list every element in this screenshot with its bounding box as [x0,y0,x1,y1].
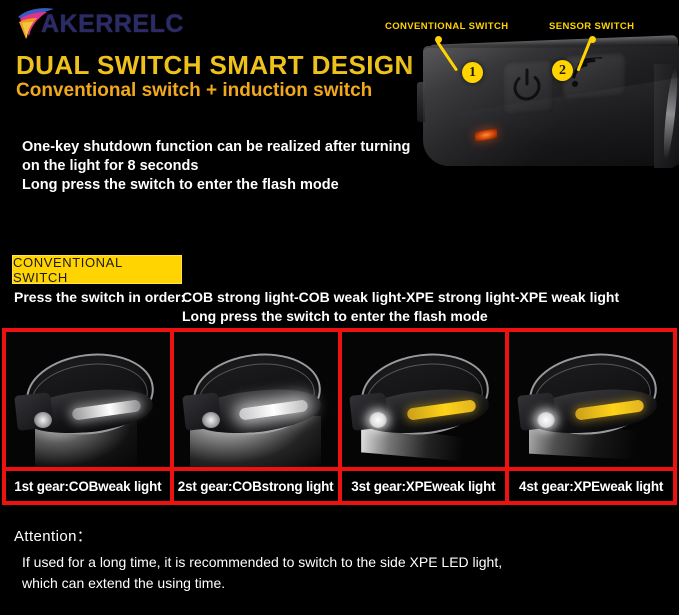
gear-caption-label: 4st gear:XPEweak light [519,479,663,494]
attention-title: Attention： [14,525,92,546]
gear-caption-4: 4st gear:XPEweak light [509,471,673,501]
gear-photo-3 [342,332,506,467]
callout-number-1: 1 [462,62,483,83]
hero-left-nub [417,82,425,122]
gear-caption-label: 3st gear:XPEweak light [351,479,495,494]
conventional-switch-badge-label: CONVENTIONAL SWITCH [13,255,181,285]
body-copy: One-key shutdown function can be realize… [22,138,410,195]
attention-line-2: which can extend the using time. [22,573,502,594]
gear-caption-label: 1st gear:COBweak light [14,479,161,494]
gear-cell-4: 4st gear:XPEweak light [509,332,673,501]
press-order-flash-mode: Long press the switch to enter the flash… [182,308,488,324]
body-copy-line-1: One-key shutdown function can be realize… [22,138,410,157]
side-lens [34,412,52,428]
callout-label-conventional-switch: CONVENTIONAL SWITCH [385,21,509,32]
page-subheadline: Conventional switch + induction switch [16,80,372,102]
press-order-sequence: COB strong light-COB weak light-XPE stro… [182,289,619,305]
callout-label-sensor-switch: SENSOR SWITCH [549,21,634,32]
gear-cell-1: 1st gear:COBweak light [6,332,170,501]
body-copy-line-3: Long press the switch to enter the flash… [22,176,410,195]
gear-photo-2 [174,332,338,467]
side-lens [537,412,555,428]
side-lens [369,412,387,428]
gear-photo-4 [509,332,673,467]
logo-swoosh-icon [14,6,58,42]
sensor-wave-icon [568,57,608,94]
conventional-switch-badge: CONVENTIONAL SWITCH [12,255,182,284]
gear-cell-3: 3st gear:XPEweak light [342,332,506,501]
side-lens [202,412,220,428]
gear-caption-1: 1st gear:COBweak light [6,471,170,501]
body-copy-line-2: on the light for 8 seconds [22,157,410,176]
gear-caption-label: 2st gear:COBstrong light [178,479,334,494]
attention-line-1: If used for a long time, it is recommend… [22,552,502,573]
gear-photo-1 [6,332,170,467]
brand-name: AKERRELC [41,10,184,39]
gear-mode-grid: 1st gear:COBweak light 2st gear:COBstron… [2,328,677,505]
gear-caption-2: 2st gear:COBstrong light [174,471,338,501]
gear-caption-3: 3st gear:XPEweak light [342,471,506,501]
page-headline: DUAL SWITCH SMART DESIGN [16,50,414,81]
hero-product-photo [370,8,679,190]
press-order-label: Press the switch in order: [14,289,185,305]
attention-body: If used for a long time, it is recommend… [22,552,502,594]
gear-cell-2: 2st gear:COBstrong light [174,332,338,501]
brand-logo: AKERRELC [14,6,184,42]
callout-number-2: 2 [552,60,573,81]
infographic-page: AKERRELC DUAL SWITCH SMART DESIGN Conven… [0,0,679,615]
power-icon [510,65,544,107]
